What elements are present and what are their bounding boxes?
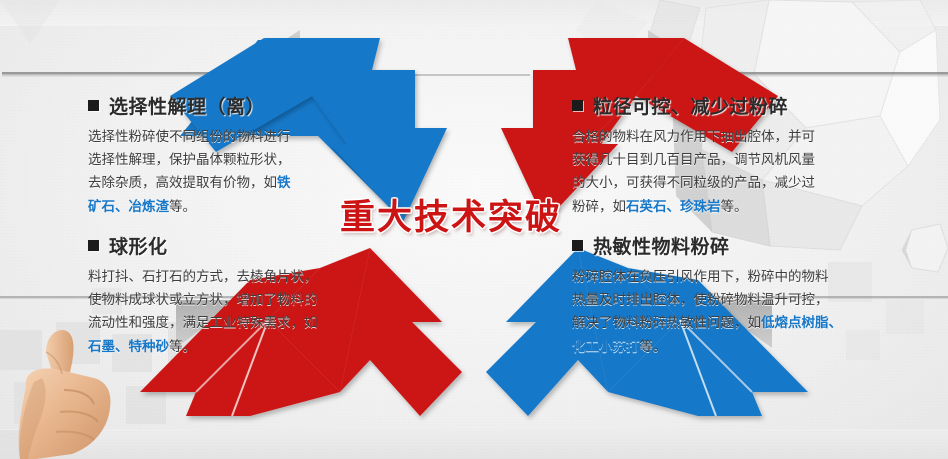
block-heading: 热敏性物料粉碎 (593, 232, 730, 259)
block-heading-row: 粒径可控、减少过粉碎 (572, 92, 882, 119)
body-line: 的大小，可获得不同粒级的产品，减少过 (572, 172, 882, 195)
square-bullet-icon (88, 240, 99, 251)
block-body: 选择性粉碎使不同组份的物料进行 选择性解理，保护晶体颗粒形状， 去除杂质，高效提… (88, 126, 338, 219)
block-heat-sensitive-grinding: 热敏性物料粉碎 粉碎腔体在负压引风作用下，粉碎中的物料 热量及时排出腔体，使粉碎… (572, 232, 892, 359)
block-heading: 球形化 (109, 232, 168, 259)
body-line: 选择性粉碎使不同组份的物料进行 (88, 126, 338, 149)
highlight-term: 低熔点树脂、 (761, 315, 842, 331)
highlight-term: 铁 (277, 175, 291, 191)
block-body: 合格的物料在风力作用下抽出腔体，并可 获得几十目到几百目产品，调节风机风量 的大… (572, 126, 882, 219)
body-line: 解决了物料粉碎热敏性问题，如低熔点树脂、 (572, 312, 892, 335)
body-line: 矿石、冶炼渣等。 (88, 196, 338, 219)
block-body: 粉碎腔体在负压引风作用下，粉碎中的物料 热量及时排出腔体，使粉碎物料温升可控， … (572, 266, 892, 359)
block-body: 料打抖、石打石的方式，去棱角片状， 使物料成球状或立方状，增加了物料的 流动性和… (88, 266, 378, 359)
body-line: 热量及时排出腔体，使粉碎物料温升可控， (572, 289, 892, 312)
body-line: 石墨、特种砂等。 (88, 336, 378, 359)
block-selective-dissociation: 选择性解理（离） 选择性粉碎使不同组份的物料进行 选择性解理，保护晶体颗粒形状，… (88, 92, 338, 219)
highlight-term: 矿石、冶炼渣 (88, 199, 169, 215)
block-heading-row: 选择性解理（离） (88, 92, 338, 119)
block-heading: 选择性解理（离） (109, 92, 265, 119)
block-heading-row: 热敏性物料粉碎 (572, 232, 892, 259)
block-controllable-particle-size: 粒径可控、减少过粉碎 合格的物料在风力作用下抽出腔体，并可 获得几十目到几百目产… (572, 92, 882, 219)
body-line: 选择性解理，保护晶体颗粒形状， (88, 149, 338, 172)
square-bullet-icon (572, 100, 583, 111)
highlight-term: 石英石、珍珠岩 (626, 199, 721, 215)
body-line: 化工小苏打等。 (572, 336, 892, 359)
body-line: 流动性和强度，满足工业特殊需求，如 (88, 312, 378, 335)
body-line: 合格的物料在风力作用下抽出腔体，并可 (572, 126, 882, 149)
block-heading-row: 球形化 (88, 232, 378, 259)
body-line: 料打抖、石打石的方式，去棱角片状， (88, 266, 378, 289)
square-bullet-icon (572, 240, 583, 251)
body-line: 使物料成球状或立方状，增加了物料的 (88, 289, 378, 312)
slide-canvas: 重大技术突破 选择性解理（离） 选择性粉碎使不同组份的物料进行 选择性解理，保护… (0, 0, 948, 459)
highlight-term: 石墨、特种砂 (88, 339, 169, 355)
body-line: 获得几十目到几百目产品，调节风机风量 (572, 149, 882, 172)
square-bullet-icon (88, 100, 99, 111)
highlight-term: 化工小苏打 (572, 339, 640, 355)
body-line: 去除杂质，高效提取有价物，如铁 (88, 172, 338, 195)
block-spheroidization: 球形化 料打抖、石打石的方式，去棱角片状， 使物料成球状或立方状，增加了物料的 … (88, 232, 378, 359)
block-heading: 粒径可控、减少过粉碎 (593, 92, 788, 119)
body-line: 粉碎，如石英石、珍珠岩等。 (572, 196, 882, 219)
body-line: 粉碎腔体在负压引风作用下，粉碎中的物料 (572, 266, 892, 289)
